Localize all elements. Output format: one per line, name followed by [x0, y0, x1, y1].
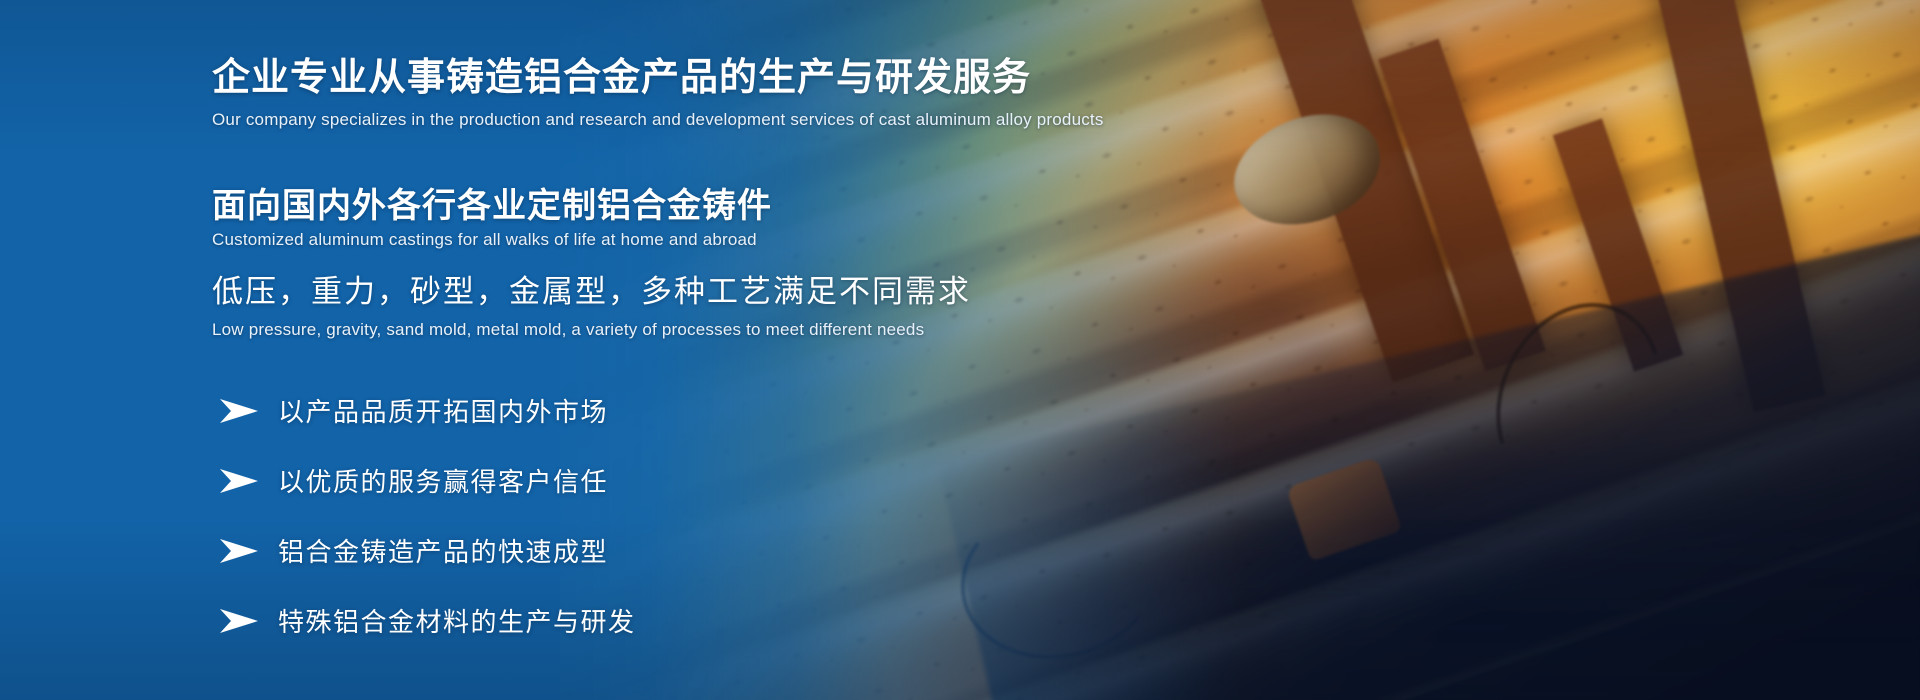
list-item-label: 以产品品质开拓国内外市场	[278, 392, 608, 429]
arrow-right-icon	[218, 398, 260, 424]
list-item: 特殊铝合金材料的生产与研发	[218, 602, 636, 639]
arrow-right-icon	[218, 538, 260, 564]
list-item-label: 铝合金铸造产品的快速成型	[278, 532, 608, 569]
headline-secondary-zh: 面向国内外各行各业定制铝合金铸件	[212, 178, 772, 227]
headline-tertiary-en: Low pressure, gravity, sand mold, metal …	[212, 320, 924, 340]
headline-tertiary-zh: 低压，重力，砂型，金属型，多种工艺满足不同需求	[212, 266, 971, 311]
headline-secondary-en: Customized aluminum castings for all wal…	[212, 230, 757, 250]
headline-primary-en: Our company specializes in the productio…	[212, 110, 1104, 130]
feature-list: 以产品品质开拓国内外市场 以优质的服务赢得客户信任 铝合金铸造产品的快速成型	[218, 392, 636, 639]
headline-primary-zh: 企业专业从事铸造铝合金产品的生产与研发服务	[212, 56, 1031, 102]
list-item-label: 特殊铝合金材料的生产与研发	[278, 602, 636, 639]
arrow-right-icon	[218, 468, 260, 494]
list-item: 铝合金铸造产品的快速成型	[218, 532, 636, 569]
hero-banner: 企业专业从事铸造铝合金产品的生产与研发服务 Our company specia…	[0, 0, 1920, 700]
banner-content: 企业专业从事铸造铝合金产品的生产与研发服务 Our company specia…	[212, 0, 1392, 700]
list-item: 以优质的服务赢得客户信任	[218, 462, 636, 499]
list-item-label: 以优质的服务赢得客户信任	[278, 462, 608, 499]
arrow-right-icon	[218, 608, 260, 634]
list-item: 以产品品质开拓国内外市场	[218, 392, 636, 429]
